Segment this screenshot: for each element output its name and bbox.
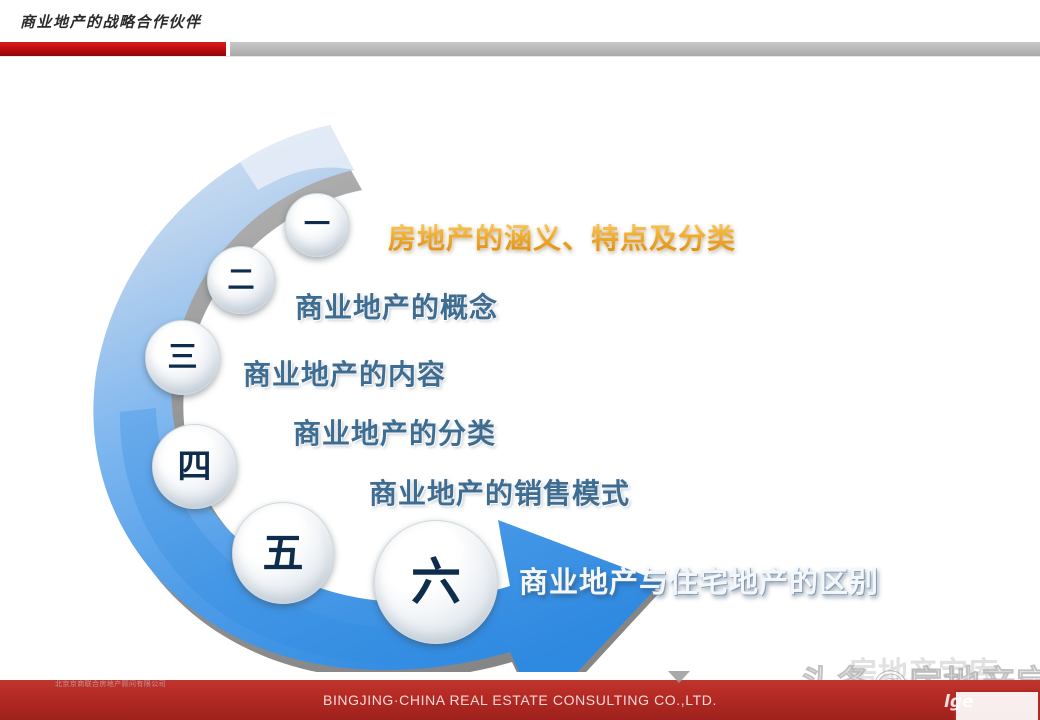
footer-notch-icon — [668, 671, 690, 683]
agenda-numeral-5: 五 — [263, 533, 304, 574]
agenda-marker-4[interactable]: 四 — [152, 424, 237, 509]
watermark-badge-box — [954, 690, 1040, 720]
agenda-marker-1[interactable]: 一 — [285, 193, 349, 257]
agenda-numeral-2: 二 — [228, 267, 255, 294]
agenda-diagram: 一 二 三 四 五 六 房地产的涵义、特点及分类 商业地产的概念 商业地产的内容… — [0, 62, 1040, 672]
agenda-label-2[interactable]: 商业地产的概念 — [295, 286, 498, 326]
page-title: 商业地产的战略合作伙伴 — [20, 11, 202, 32]
footer-company-name: BINGJING·CHINA REAL ESTATE CONSULTING CO… — [0, 692, 1040, 708]
agenda-label-6[interactable]: 商业地产与住宅地产的区别 — [519, 559, 879, 601]
header-bar-red — [0, 42, 226, 56]
header-bar-gray — [230, 42, 1040, 56]
agenda-label-4[interactable]: 商业地产的分类 — [293, 412, 496, 452]
agenda-label-3[interactable]: 商业地产的内容 — [243, 353, 446, 393]
agenda-marker-5[interactable]: 五 — [232, 502, 334, 604]
agenda-numeral-4: 四 — [178, 450, 212, 484]
footer-faint-note: 北京京商联合房地产顾问有限公司 — [55, 679, 166, 689]
agenda-marker-3[interactable]: 三 — [145, 320, 220, 395]
agenda-numeral-3: 三 — [168, 343, 198, 373]
agenda-marker-2[interactable]: 二 — [207, 246, 275, 314]
agenda-label-5[interactable]: 商业地产的销售模式 — [369, 472, 630, 512]
agenda-numeral-1: 一 — [304, 212, 330, 238]
agenda-label-1[interactable]: 房地产的涵义、特点及分类 — [388, 217, 736, 257]
header-divider — [0, 56, 1040, 57]
agenda-numeral-6: 六 — [411, 557, 461, 607]
slide-canvas: 商业地产的战略合作伙伴 — [0, 0, 1040, 720]
agenda-marker-6[interactable]: 六 — [374, 520, 498, 644]
